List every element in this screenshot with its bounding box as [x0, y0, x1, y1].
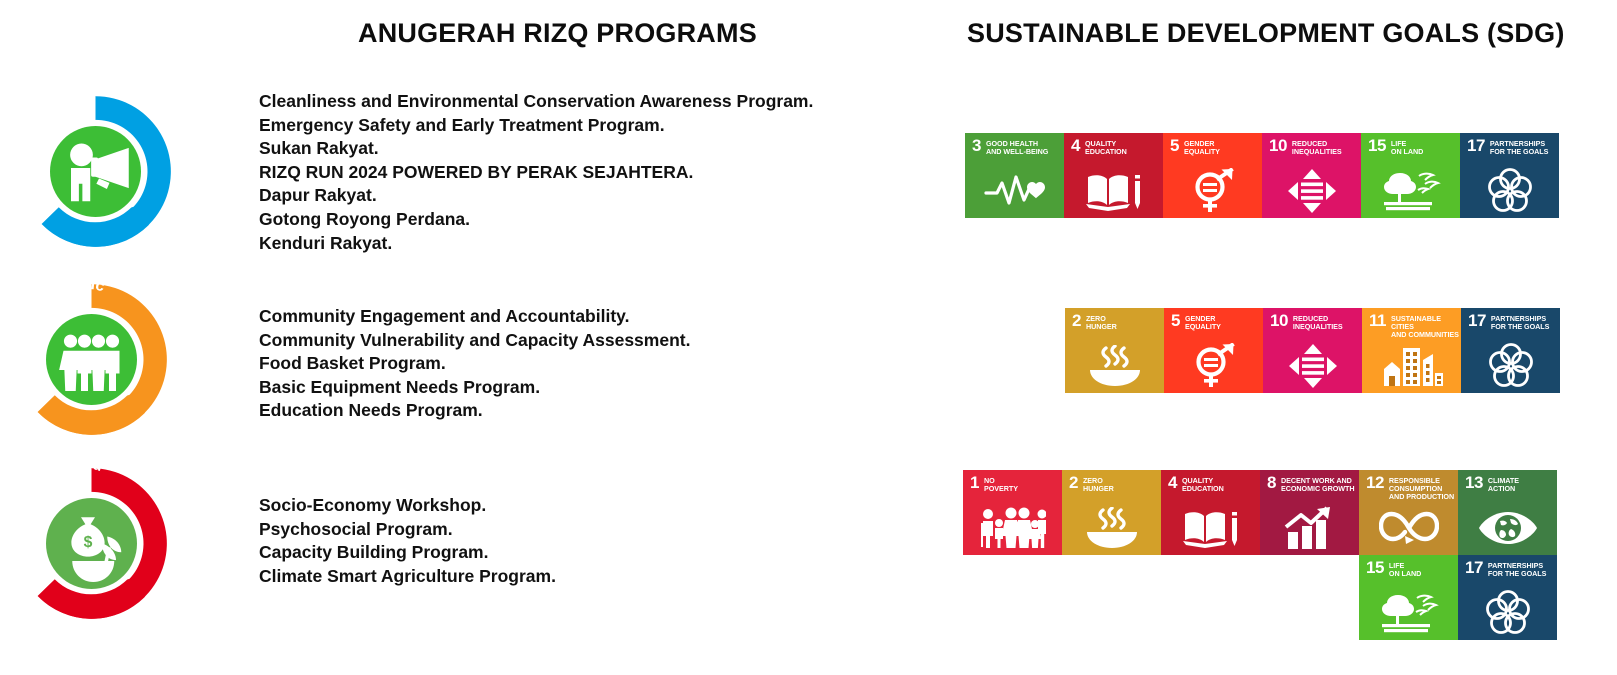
gender-equality-icon — [1164, 343, 1263, 389]
sdg-tile-header: 3GOOD HEALTH AND WELL-BEING — [965, 133, 1064, 156]
sdg-number: 17 — [1468, 314, 1486, 328]
program-line: Climate Smart Agriculture Program. — [259, 565, 556, 589]
program-line: Gotong Royong Perdana. — [259, 208, 813, 232]
sdg-number: 5 — [1171, 314, 1180, 328]
sdg-tile-15[interactable]: 15LIFE ON LAND — [1359, 555, 1458, 640]
sdg-title: CLIMATE ACTION — [1488, 477, 1519, 493]
sdg-tile-5[interactable]: 5GENDER EQUALITY — [1163, 133, 1262, 218]
sdg-tile-5[interactable]: 5GENDER EQUALITY — [1164, 308, 1263, 393]
sdg-tile-17[interactable]: 17PARTNERSHIPS FOR THE GOALS — [1460, 133, 1559, 218]
sdg-number: 17 — [1465, 561, 1483, 575]
sdg-number: 12 — [1366, 476, 1384, 490]
sdg-tile-header: 2ZERO HUNGER — [1065, 308, 1164, 331]
sdg-title: LIFE ON LAND — [1389, 562, 1421, 578]
sdg-tile-header: 10REDUCED INEQUALITIES — [1262, 133, 1361, 156]
program-line: Emergency Safety and Early Treatment Pro… — [259, 114, 813, 138]
tree-birds-icon — [1361, 168, 1460, 214]
sdg-number: 15 — [1368, 139, 1386, 153]
sdg-number: 8 — [1267, 476, 1276, 490]
program-line: Education Needs Program. — [259, 399, 690, 423]
sdg-title: GENDER EQUALITY — [1185, 315, 1221, 331]
sdg-tile-8[interactable]: 8DECENT WORK AND ECONOMIC GROWTH — [1260, 470, 1359, 555]
program-line: Dapur Rakyat. — [259, 184, 813, 208]
sdg-number: 10 — [1269, 139, 1287, 153]
economy-livelihood-badge: $ Economy and Livelihood — [4, 456, 179, 631]
sdg-tile-header: 17PARTNERSHIPS FOR THE GOALS — [1458, 555, 1557, 578]
sdg-number: 5 — [1170, 139, 1179, 153]
steaming-bowl-icon — [1065, 343, 1164, 389]
infographic-canvas: ANUGERAH RIZQ PROGRAMS SUSTAINABLE DEVEL… — [0, 0, 1617, 675]
family-group-icon — [963, 505, 1062, 551]
program-line: Socio-Economy Workshop. — [259, 494, 556, 518]
sdg-number: 1 — [970, 476, 979, 490]
sdg-tile-header: 1NO POVERTY — [963, 470, 1062, 493]
sdg-title: RESPONSIBLE CONSUMPTION AND PRODUCTION — [1389, 477, 1454, 501]
city-buildings-icon — [1362, 343, 1461, 389]
program-line: Kenduri Rakyat. — [259, 232, 813, 256]
sdg-title: PARTNERSHIPS FOR THE GOALS — [1488, 562, 1546, 578]
interlocking-circles-icon — [1461, 343, 1560, 389]
sdg-title: PARTNERSHIPS FOR THE GOALS — [1490, 140, 1548, 156]
sdg-tile-header: 5GENDER EQUALITY — [1164, 308, 1263, 331]
sdg-title: REDUCED INEQUALITIES — [1293, 315, 1343, 331]
sdg-tile-3[interactable]: 3GOOD HEALTH AND WELL-BEING — [965, 133, 1064, 218]
sdg-tile-header: 17PARTNERSHIPS FOR THE GOALS — [1460, 133, 1559, 156]
sdg-number: 3 — [972, 139, 981, 153]
sdg-title: QUALITY EDUCATION — [1085, 140, 1127, 156]
sdg-tile-header: 11SUSTAINABLE CITIES AND COMMUNITIES — [1362, 308, 1461, 339]
sdg-tile-10[interactable]: 10REDUCED INEQUALITIES — [1263, 308, 1362, 393]
interlocking-circles-icon — [1458, 590, 1557, 636]
tree-birds-icon — [1359, 590, 1458, 636]
sdg-tile-header: 13CLIMATE ACTION — [1458, 470, 1557, 493]
sdg-tile-4[interactable]: 4QUALITY EDUCATION — [1161, 470, 1260, 555]
program-list-awareness: Cleanliness and Environmental Conservati… — [259, 90, 813, 255]
sdg-tile-header: 4QUALITY EDUCATION — [1161, 470, 1260, 493]
sdg-grid-spacer — [963, 555, 1062, 640]
program-line: Psychosocial Program. — [259, 518, 556, 542]
sdg-number: 2 — [1072, 314, 1081, 328]
sdg-grid-spacer — [1260, 555, 1359, 640]
sdg-number: 10 — [1270, 314, 1288, 328]
sdg-title: LIFE ON LAND — [1391, 140, 1423, 156]
infinity-loop-icon — [1359, 505, 1458, 551]
sdg-grid-spacer — [1062, 555, 1161, 640]
eye-globe-icon — [1458, 505, 1557, 551]
sdg-row-community-resilience: 2ZERO HUNGER5GENDER EQUALITY10REDUCED IN… — [1065, 308, 1565, 393]
sdg-title: SUSTAINABLE CITIES AND COMMUNITIES — [1391, 315, 1461, 339]
sdg-tile-11[interactable]: 11SUSTAINABLE CITIES AND COMMUNITIES — [1362, 308, 1461, 393]
sdg-tile-1[interactable]: 1NO POVERTY — [963, 470, 1062, 555]
program-line: Community Engagement and Accountability. — [259, 305, 690, 329]
sdg-number: 11 — [1369, 314, 1386, 328]
sdg-tile-header: 15LIFE ON LAND — [1359, 555, 1458, 578]
community-resilience-badge: Community Resilience — [4, 272, 179, 447]
sdg-tile-4[interactable]: 4QUALITY EDUCATION — [1064, 133, 1163, 218]
program-line: Capacity Building Program. — [259, 541, 556, 565]
svg-text:Awareness: Awareness — [8, 84, 50, 198]
program-line: Food Basket Program. — [259, 352, 690, 376]
four-arrows-icon — [1263, 343, 1362, 389]
sdg-tile-header: 8DECENT WORK AND ECONOMIC GROWTH — [1260, 470, 1359, 493]
sdg-row-awareness: 3GOOD HEALTH AND WELL-BEING4QUALITY EDUC… — [965, 133, 1565, 218]
book-pencil-icon — [1064, 168, 1163, 214]
program-list-community-resilience: Community Engagement and Accountability.… — [259, 305, 690, 423]
growth-chart-icon — [1260, 505, 1359, 551]
sdg-row-economy-livelihood: 1NO POVERTY2ZERO HUNGER4QUALITY EDUCATIO… — [963, 470, 1557, 640]
ring-label-awareness: Awareness — [8, 84, 50, 198]
sdg-tile-12[interactable]: 12RESPONSIBLE CONSUMPTION AND PRODUCTION — [1359, 470, 1458, 555]
awareness-badge: Awareness — [8, 84, 183, 259]
page-title-sdg: SUSTAINABLE DEVELOPMENT GOALS (SDG) — [967, 18, 1565, 49]
program-line: Cleanliness and Environmental Conservati… — [259, 90, 813, 114]
interlocking-circles-icon — [1460, 168, 1559, 214]
sdg-number: 13 — [1465, 476, 1483, 490]
sdg-tile-17[interactable]: 17PARTNERSHIPS FOR THE GOALS — [1458, 555, 1557, 640]
sdg-title: REDUCED INEQUALITIES — [1292, 140, 1342, 156]
sdg-title: DECENT WORK AND ECONOMIC GROWTH — [1281, 477, 1355, 493]
sdg-number: 4 — [1168, 476, 1177, 490]
sdg-title: GOOD HEALTH AND WELL-BEING — [986, 140, 1048, 156]
program-line: Community Vulnerability and Capacity Ass… — [259, 329, 690, 353]
sdg-title: ZERO HUNGER — [1086, 315, 1117, 331]
sdg-number: 4 — [1071, 139, 1080, 153]
sdg-number: 2 — [1069, 476, 1078, 490]
sdg-tile-header: 10REDUCED INEQUALITIES — [1263, 308, 1362, 331]
sdg-tile-10[interactable]: 10REDUCED INEQUALITIES — [1262, 133, 1361, 218]
sdg-title: GENDER EQUALITY — [1184, 140, 1220, 156]
sdg-tile-2[interactable]: 2ZERO HUNGER — [1062, 470, 1161, 555]
program-line: RIZQ RUN 2024 POWERED BY PERAK SEJAHTERA… — [259, 161, 813, 185]
sdg-title: PARTNERSHIPS FOR THE GOALS — [1491, 315, 1549, 331]
sdg-tile-header: 5GENDER EQUALITY — [1163, 133, 1262, 156]
book-pencil-icon — [1161, 505, 1260, 551]
program-line: Sukan Rakyat. — [259, 137, 813, 161]
sdg-tile-header: 4QUALITY EDUCATION — [1064, 133, 1163, 156]
sdg-title: QUALITY EDUCATION — [1182, 477, 1224, 493]
sdg-number: 17 — [1467, 139, 1485, 153]
sdg-grid-spacer — [1161, 555, 1260, 640]
sdg-tile-header: 2ZERO HUNGER — [1062, 470, 1161, 493]
gender-equality-icon — [1163, 168, 1262, 214]
svg-text:$: $ — [84, 534, 93, 551]
sdg-tile-header: 15LIFE ON LAND — [1361, 133, 1460, 156]
sdg-tile-header: 17PARTNERSHIPS FOR THE GOALS — [1461, 308, 1560, 331]
sdg-tile-header: 12RESPONSIBLE CONSUMPTION AND PRODUCTION — [1359, 470, 1458, 501]
page-title-programs: ANUGERAH RIZQ PROGRAMS — [358, 18, 757, 49]
sdg-number: 15 — [1366, 561, 1384, 575]
program-list-economy-livelihood: Socio-Economy Workshop.Psychosocial Prog… — [259, 494, 556, 588]
sdg-title: NO POVERTY — [984, 477, 1018, 493]
sdg-tile-13[interactable]: 13CLIMATE ACTION — [1458, 470, 1557, 555]
program-line: Basic Equipment Needs Program. — [259, 376, 690, 400]
four-arrows-icon — [1262, 168, 1361, 214]
sdg-tile-17[interactable]: 17PARTNERSHIPS FOR THE GOALS — [1461, 308, 1560, 393]
steaming-bowl-icon — [1062, 505, 1161, 551]
sdg-tile-2[interactable]: 2ZERO HUNGER — [1065, 308, 1164, 393]
heartbeat-icon — [965, 168, 1064, 214]
sdg-title: ZERO HUNGER — [1083, 477, 1114, 493]
sdg-tile-15[interactable]: 15LIFE ON LAND — [1361, 133, 1460, 218]
